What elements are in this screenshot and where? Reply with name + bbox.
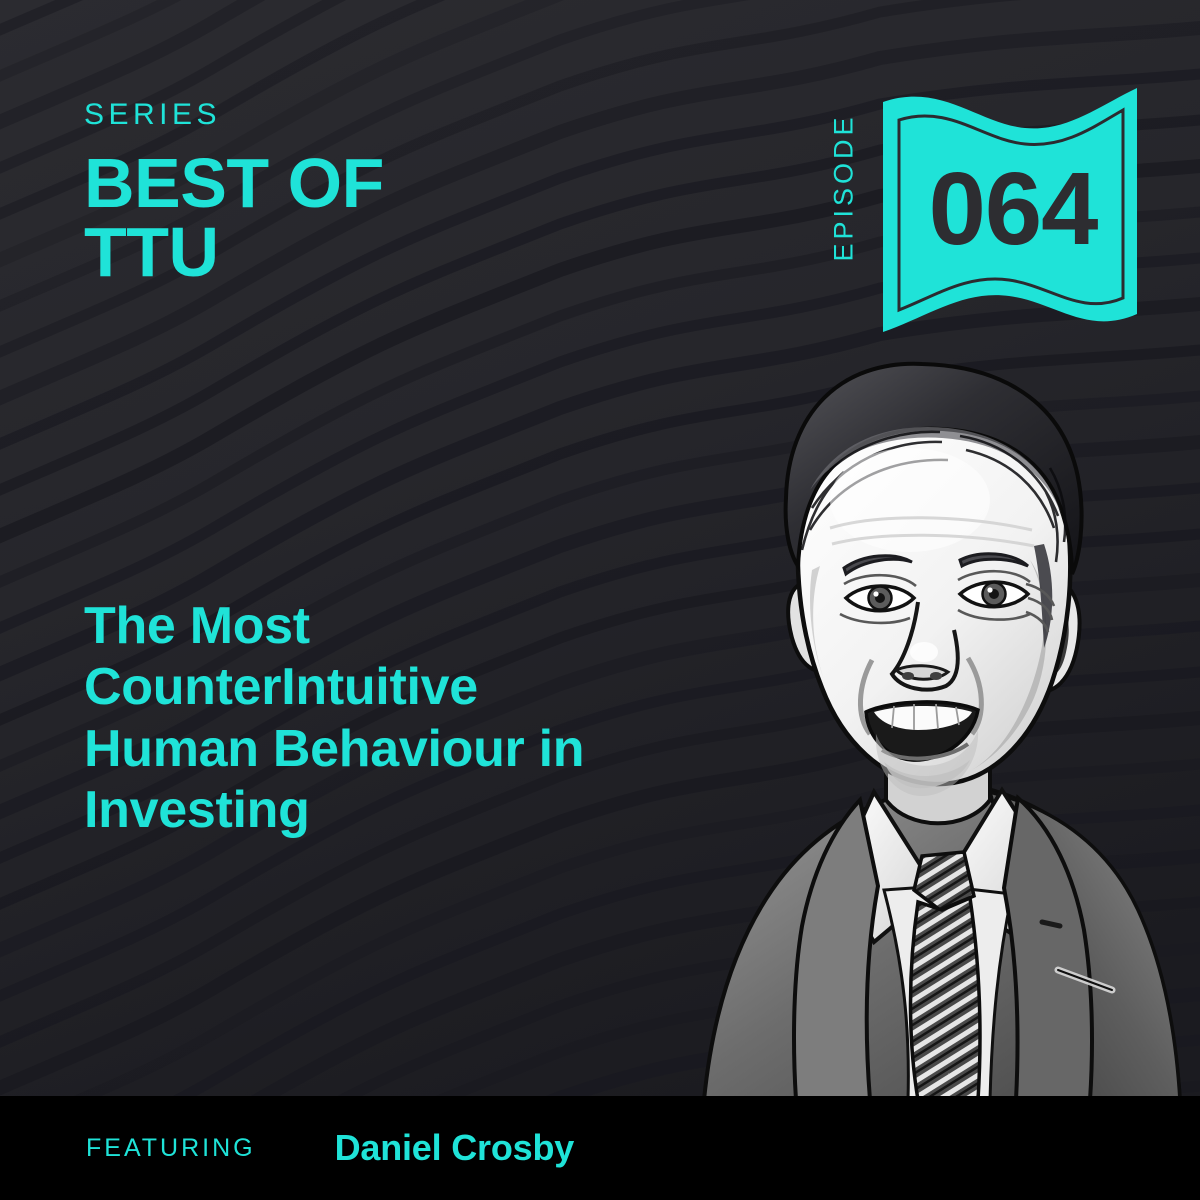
series-kicker-label: SERIES	[84, 100, 504, 130]
guest-name: Daniel Crosby	[335, 1130, 574, 1166]
series-block: SERIES BEST OF TTU	[84, 100, 504, 286]
episode-badge-group: EPISODE 064	[806, 78, 1146, 340]
episode-label: EPISODE	[831, 88, 858, 288]
footer-bar: FEATURING Daniel Crosby	[0, 1096, 1200, 1200]
episode-title: The Most CounterIntuitive Human Behaviou…	[84, 596, 644, 841]
series-name: BEST OF TTU	[84, 149, 504, 286]
featuring-label: FEATURING	[86, 1136, 256, 1161]
episode-number: 064	[875, 78, 1145, 340]
podcast-cover-artwork: SERIES BEST OF TTU EPISODE 064 The Most …	[0, 0, 1200, 1200]
